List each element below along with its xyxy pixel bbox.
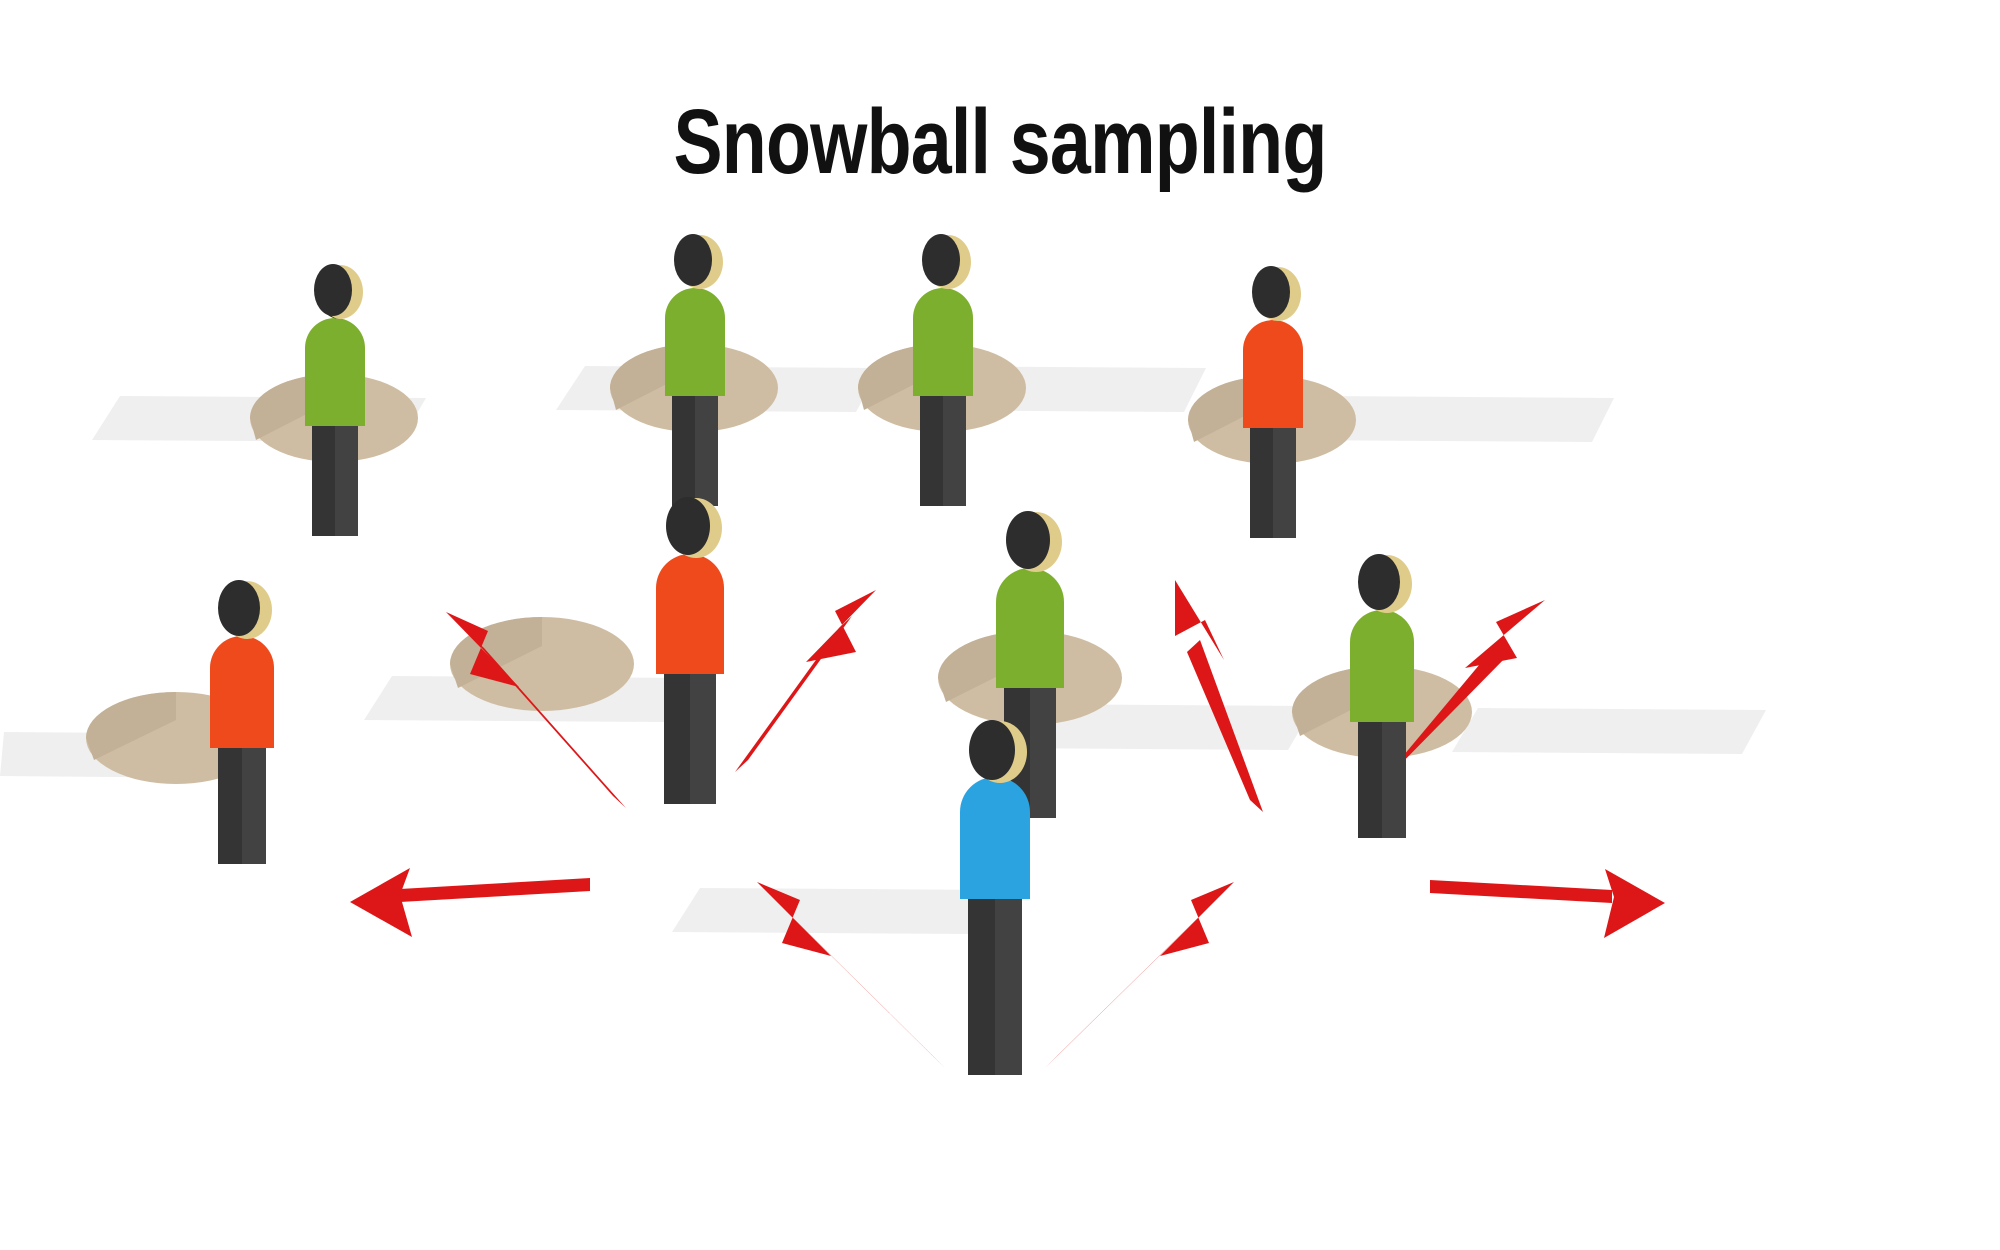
hair-cap-icon (969, 720, 1015, 780)
torso (1350, 610, 1414, 722)
torso (305, 318, 365, 426)
hair-cap-icon (218, 580, 260, 636)
arrow-head-icon (1604, 869, 1665, 938)
hair-cap-icon (314, 264, 352, 316)
arrow-shaft (1430, 880, 1612, 903)
arrow-shaft (1045, 907, 1209, 1068)
arrow-head-icon (1465, 600, 1545, 668)
figure-n2[interactable] (665, 234, 725, 506)
hair-cap-icon (1006, 511, 1050, 569)
torso (913, 288, 973, 396)
figure-seed[interactable] (960, 720, 1030, 1075)
diagram-svg (0, 0, 2000, 1250)
arrow-hubL-to-n2 (735, 590, 876, 772)
legs-shade (995, 893, 1022, 1075)
arrow-head-icon (350, 868, 412, 937)
figure-n5[interactable] (1243, 266, 1303, 538)
figure-hubL[interactable] (656, 497, 724, 804)
legs-shade (1273, 422, 1296, 538)
arrow-head-icon (806, 590, 876, 662)
hair-cap-icon (1252, 266, 1290, 318)
arrow-head-icon (1160, 882, 1234, 956)
legs-shade (943, 390, 966, 506)
legs-shade (1030, 682, 1056, 818)
torso (996, 568, 1064, 688)
arrow-hubR-to-n4 (1175, 580, 1263, 812)
hair-cap-icon (922, 234, 960, 286)
arrow-seed-to-hubR (1045, 882, 1234, 1068)
legs-shade (1382, 716, 1406, 838)
legs-shade (335, 420, 358, 536)
legs-shade (695, 390, 718, 506)
legs-shade (242, 742, 266, 864)
torso (210, 636, 274, 748)
torso (656, 554, 724, 674)
arrow-hubR-to-n6 (1430, 869, 1665, 938)
torso (1243, 320, 1303, 428)
torso (960, 777, 1030, 899)
ground-shadow (1452, 708, 1766, 754)
arrow-shaft (400, 878, 590, 902)
diagram-canvas: Snowball sampling (0, 0, 2000, 1250)
hair-cap-icon (674, 234, 712, 286)
arrow-hubL-to-n3 (350, 868, 590, 937)
figure-n4[interactable] (913, 234, 973, 506)
figure-n3[interactable] (210, 580, 274, 864)
legs-shade (690, 668, 716, 804)
hair-cap-icon (666, 497, 710, 555)
figure-n6[interactable] (1350, 554, 1414, 838)
torso (665, 288, 725, 396)
figure-n1[interactable] (305, 264, 365, 536)
ground-shadow (672, 888, 996, 934)
hair-cap-icon (1358, 554, 1400, 610)
